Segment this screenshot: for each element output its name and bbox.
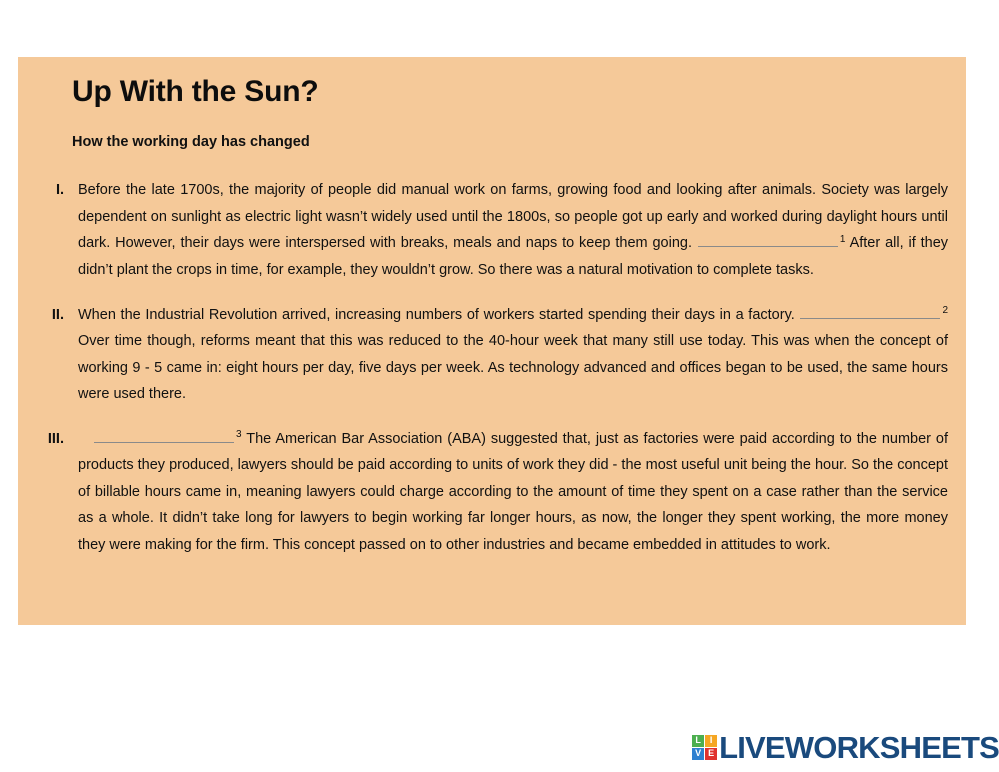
- paragraph-numeral: II.: [34, 302, 78, 329]
- paragraph-body: Before the late 1700s, the majority of p…: [78, 177, 948, 283]
- liveworksheets-logo-icon: L I V E: [692, 735, 717, 760]
- paragraph-numeral: I.: [34, 177, 78, 204]
- paragraph-item: III. 3 The American Bar Association (ABA…: [72, 426, 948, 559]
- liveworksheets-logo[interactable]: L I V E LIVEWORKSHEETS: [692, 730, 999, 764]
- worksheet-content: Up With the Sun? How the working day has…: [72, 75, 948, 576]
- logo-letter-i: I: [705, 735, 717, 747]
- page-title: Up With the Sun?: [72, 75, 948, 108]
- footnote-marker-2: 2: [941, 305, 948, 316]
- paragraph-body: When the Industrial Revolution arrived, …: [78, 302, 948, 408]
- logo-wordmark: LIVEWORKSHEETS: [719, 732, 999, 763]
- paragraph-body: 3 The American Bar Association (ABA) sug…: [78, 426, 948, 559]
- answer-blank-1[interactable]: [698, 233, 838, 248]
- footnote-marker-1: 1: [839, 234, 846, 245]
- paragraph-text-after-blank: Over time though, reforms meant that thi…: [78, 333, 948, 402]
- paragraph-numeral: III.: [34, 426, 78, 453]
- paragraph-item: II. When the Industrial Revolution arriv…: [72, 302, 948, 408]
- answer-blank-2[interactable]: [800, 304, 940, 319]
- paragraph-item: I. Before the late 1700s, the majority o…: [72, 177, 948, 283]
- logo-letter-v: V: [692, 748, 704, 760]
- worksheet-panel: Up With the Sun? How the working day has…: [18, 57, 966, 625]
- logo-letter-e: E: [705, 748, 717, 760]
- page-subtitle: How the working day has changed: [72, 134, 948, 151]
- paragraph-text-before-blank: When the Industrial Revolution arrived, …: [78, 307, 795, 323]
- footnote-marker-3: 3: [235, 429, 242, 440]
- logo-letter-l: L: [692, 735, 704, 747]
- paragraph-text-after-blank: The American Bar Association (ABA) sugge…: [78, 431, 948, 553]
- paragraph-list: I. Before the late 1700s, the majority o…: [72, 177, 948, 558]
- answer-blank-3[interactable]: [94, 428, 234, 443]
